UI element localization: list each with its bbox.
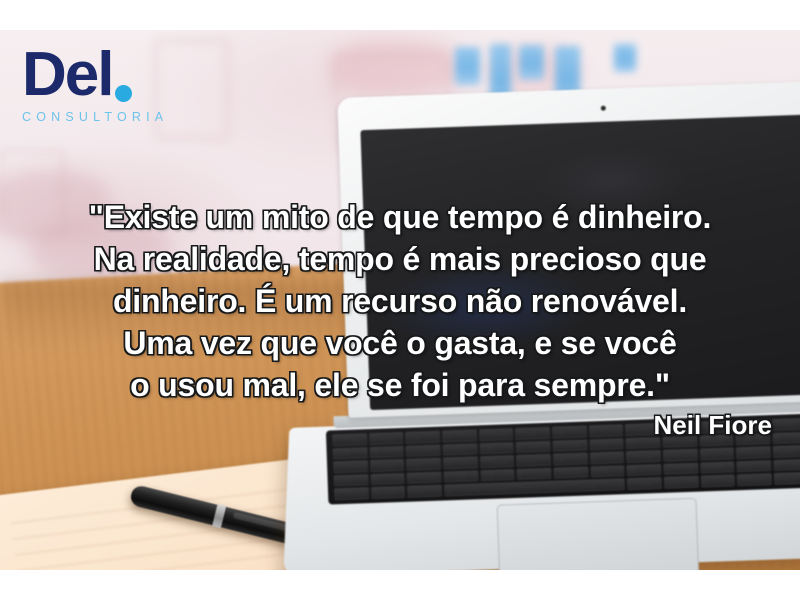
macbook-laptop xyxy=(262,80,800,551)
brand-logo: Del CONSULTORIA xyxy=(22,44,202,124)
webcam-icon xyxy=(600,106,605,111)
sticky-note xyxy=(455,47,480,85)
whiteboard-sketch xyxy=(0,150,64,234)
keyboard-keys xyxy=(332,415,800,500)
sticky-note xyxy=(519,45,544,80)
logo-tagline: CONSULTORIA xyxy=(22,110,202,124)
logo-word-text: Del xyxy=(22,40,112,109)
laptop-screen xyxy=(360,113,800,410)
laptop-lid xyxy=(337,79,800,417)
quote-graphic: Del CONSULTORIA "Existe um mito de que t… xyxy=(0,0,800,600)
logo-dot-icon xyxy=(115,85,132,102)
sticky-note xyxy=(614,44,636,72)
logo-wordmark: Del xyxy=(22,44,112,106)
laptop-trackpad xyxy=(497,498,700,570)
